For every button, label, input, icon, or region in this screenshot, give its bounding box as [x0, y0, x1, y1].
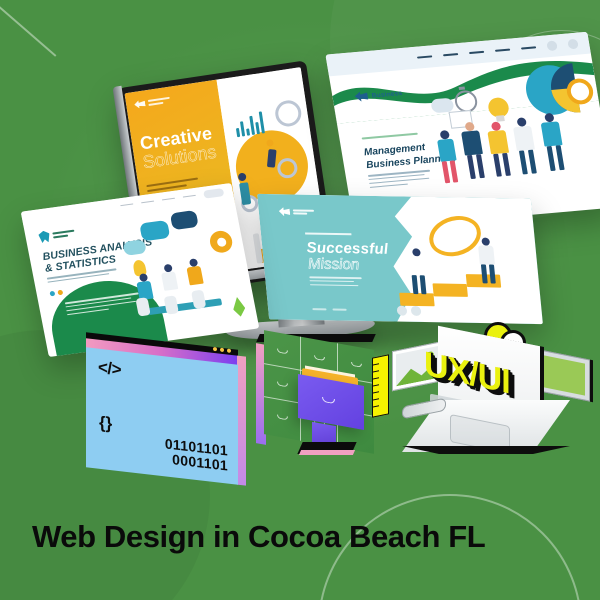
- laptop-base-edge: [402, 446, 570, 454]
- footer-link[interactable]: [312, 309, 326, 311]
- hero-paragraph: [368, 170, 433, 191]
- footer-link[interactable]: [332, 309, 346, 311]
- nav-link[interactable]: [162, 197, 175, 200]
- gear-icon: [208, 229, 234, 254]
- poster-canvas: Creative Solutions: [0, 0, 600, 600]
- nav-link[interactable]: [469, 51, 484, 55]
- mission-paragraph: [309, 276, 364, 289]
- team-illustration: [419, 56, 600, 219]
- brand-wordmark: [52, 230, 75, 238]
- file-cabinet: [256, 340, 384, 452]
- brand-wordmark: Business: [371, 90, 403, 100]
- brand-mark-icon: [38, 230, 51, 243]
- window-dot[interactable]: [227, 348, 231, 352]
- plant-icon: [231, 296, 247, 317]
- window-dot[interactable]: [213, 347, 217, 351]
- social-icon[interactable]: [49, 291, 55, 297]
- code-editor-window: </> {} 01101101 0001101: [86, 347, 238, 484]
- cta-button[interactable]: [203, 188, 224, 199]
- illustration-chair: [135, 297, 150, 316]
- hero-title: Creative Solutions: [139, 123, 220, 172]
- brand-logo: [134, 90, 211, 109]
- hero-eyebrow: [362, 133, 418, 140]
- code-brace-icon: {}: [99, 413, 112, 435]
- social-icons: [49, 290, 62, 297]
- drawer-handle[interactable]: [351, 362, 362, 368]
- ruler-icon: [372, 354, 389, 417]
- cabinet-base-accent: [299, 450, 355, 455]
- brand-mark-icon: [278, 207, 290, 216]
- successful-mission-panel: Successful Mission: [257, 194, 543, 324]
- nav-link[interactable]: [417, 55, 432, 59]
- drawer-handle[interactable]: [277, 414, 288, 420]
- binary-text: 01101101 0001101: [165, 436, 228, 473]
- code-tag-icon: </>: [98, 358, 121, 381]
- social-icon[interactable]: [57, 290, 63, 296]
- meeting-illustration: [114, 203, 255, 341]
- brand-logo: [278, 207, 314, 217]
- speech-bubble-icon: [170, 210, 199, 230]
- ux-ui-laptop: UX/UI: [396, 334, 596, 472]
- brand-wordmark: [293, 209, 315, 215]
- nav-link[interactable]: [495, 48, 510, 52]
- brand-wordmark: [148, 97, 171, 106]
- drawer-handle[interactable]: [277, 381, 288, 387]
- nav-link[interactable]: [443, 53, 458, 57]
- wireframe-panel: [534, 348, 590, 401]
- brand-logo: [38, 227, 76, 244]
- mission-illustration: [385, 206, 536, 318]
- illustration-table: [147, 298, 222, 315]
- illustration-chair: [191, 290, 206, 309]
- page-title: Web Design in Cocoa Beach FL: [32, 519, 485, 555]
- business-analysis-panel: BUSINESS ANALYSIS & STATISTICS: [21, 183, 260, 357]
- illustration-chair: [164, 295, 179, 314]
- mission-heading-line2: Mission: [307, 256, 360, 272]
- illustration-figure: [267, 149, 277, 168]
- brand-mark-icon: [354, 91, 369, 102]
- speech-bubble-icon: [122, 239, 147, 256]
- brand-mark-icon: [134, 100, 146, 110]
- nav-link[interactable]: [141, 200, 154, 203]
- nav-link[interactable]: [183, 195, 196, 198]
- speech-bubble-icon: [139, 220, 170, 241]
- window-dot[interactable]: [220, 348, 224, 352]
- mission-heading-line1: Successful: [306, 240, 389, 256]
- bar-chart-icon: [234, 112, 265, 138]
- nav-link[interactable]: [120, 203, 133, 206]
- window-side-edge: [237, 356, 246, 486]
- gear-icon: [273, 98, 303, 128]
- drawer-handle[interactable]: [277, 348, 288, 354]
- code-canvas: </> {} 01101101 0001101: [86, 347, 238, 484]
- wireframe-crossbox: [539, 354, 585, 395]
- drawer-handle[interactable]: [314, 355, 325, 361]
- nav-link[interactable]: [521, 46, 536, 50]
